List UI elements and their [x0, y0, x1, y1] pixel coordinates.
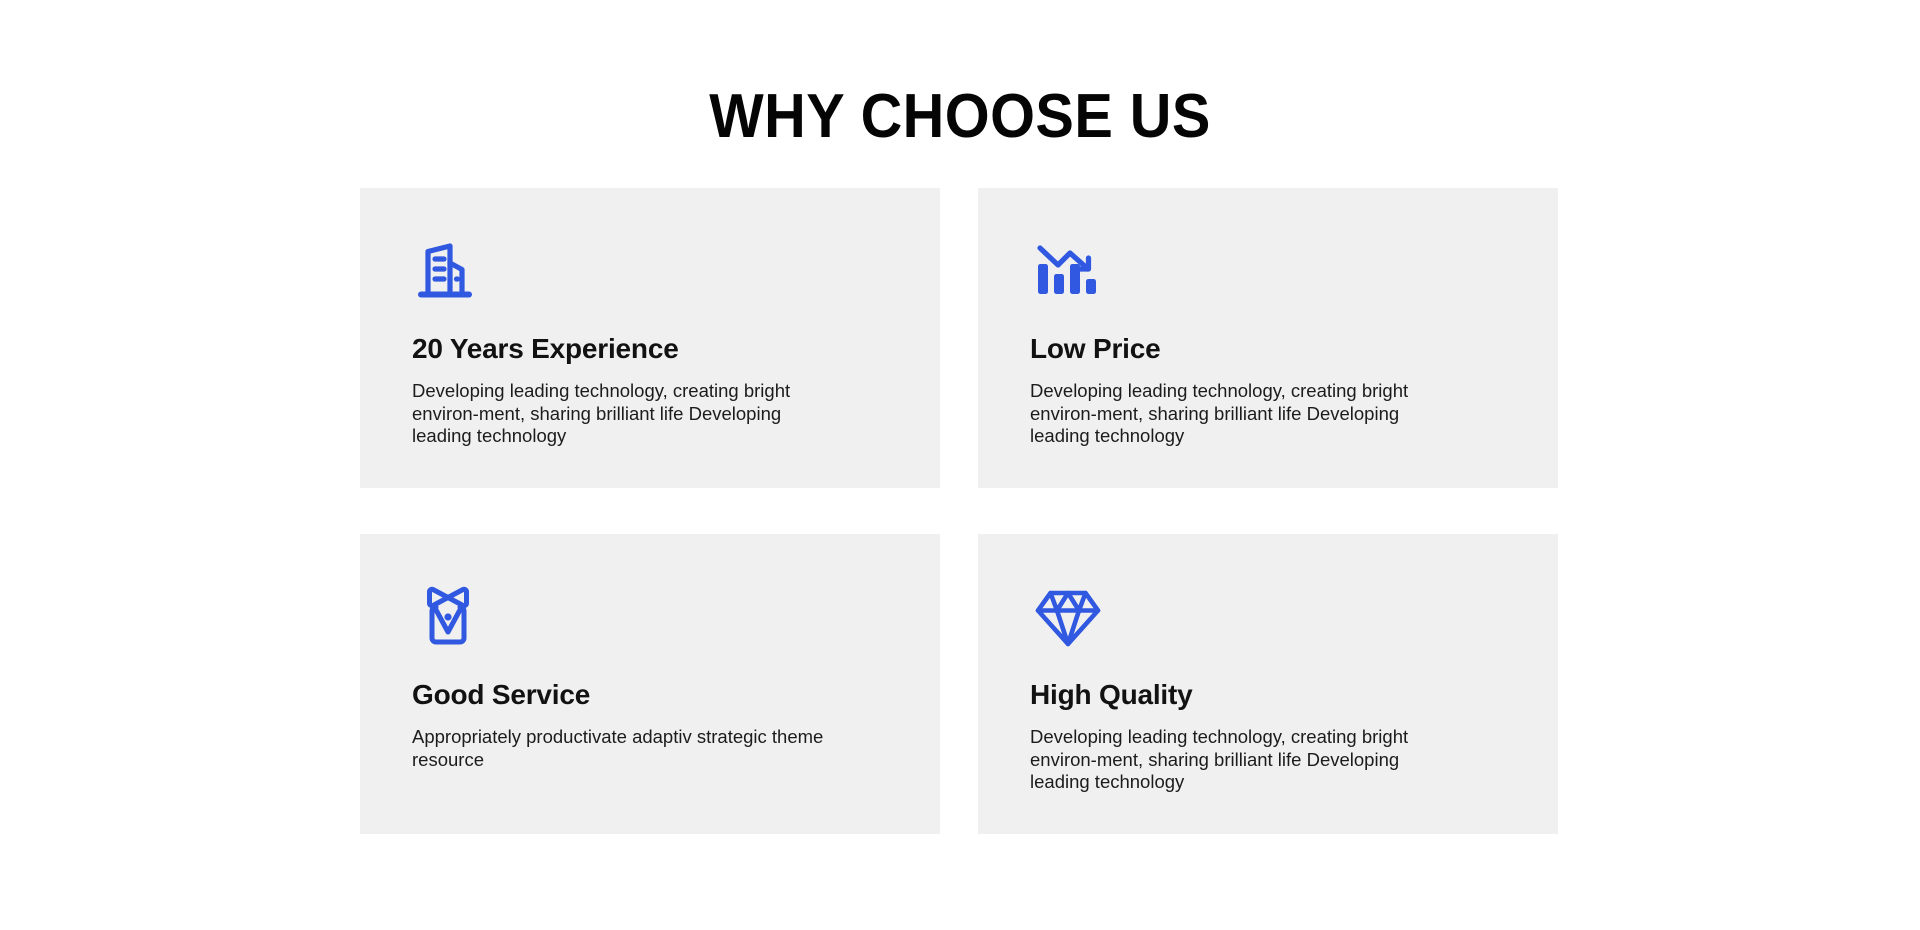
card-heading: Good Service	[412, 678, 888, 712]
declining-bar-chart-icon	[1030, 230, 1506, 306]
feature-card-good-service[interactable]: Good Service Appropriately productivate …	[360, 534, 940, 834]
card-heading: 20 Years Experience	[412, 332, 888, 366]
diamond-gem-icon	[1030, 576, 1506, 652]
card-description: Developing leading technology, creating …	[1030, 726, 1445, 794]
feature-card-low-price[interactable]: Low Price Developing leading technology,…	[978, 188, 1558, 488]
card-heading: Low Price	[1030, 332, 1506, 366]
tuxedo-bowtie-icon	[412, 576, 888, 652]
office-building-icon	[412, 230, 888, 306]
why-choose-us-section: WHY CHOOSE US 20 Years Experience Develo…	[0, 0, 1920, 930]
page-title: WHY CHOOSE US	[67, 82, 1853, 152]
card-description: Appropriately productivate adaptiv strat…	[412, 726, 827, 771]
card-heading: High Quality	[1030, 678, 1506, 712]
feature-card-experience[interactable]: 20 Years Experience Developing leading t…	[360, 188, 940, 488]
card-description: Developing leading technology, creating …	[412, 380, 827, 448]
feature-card-high-quality[interactable]: High Quality Developing leading technolo…	[978, 534, 1558, 834]
card-description: Developing leading technology, creating …	[1030, 380, 1445, 448]
feature-cards-grid: 20 Years Experience Developing leading t…	[360, 188, 1558, 834]
